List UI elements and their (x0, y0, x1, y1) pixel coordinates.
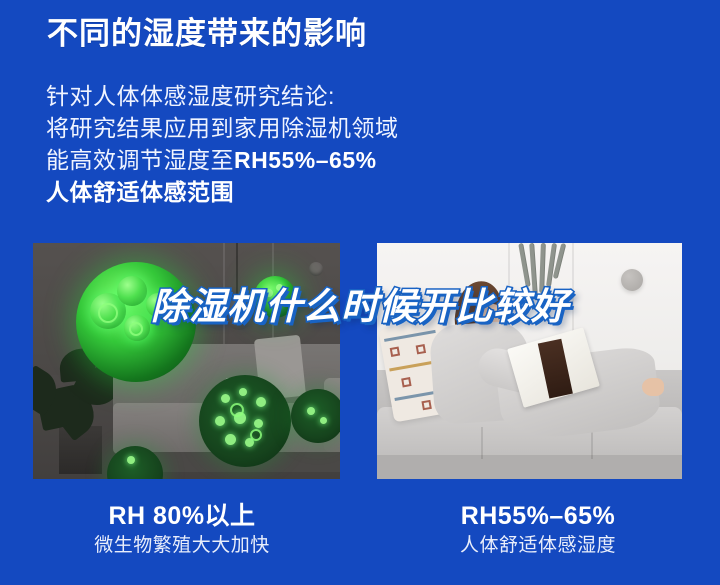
virus-spike (256, 397, 266, 407)
virus-sphere-large (199, 375, 291, 467)
microbe-ring (98, 303, 118, 323)
virus-ring (230, 403, 244, 417)
captions-row: RH 80%以上 微生物繁殖大大加快 RH55%–65% 人体舒适体感湿度 (0, 500, 720, 585)
virus-spike (239, 388, 247, 396)
virus-spike (320, 417, 327, 424)
virus-spike (307, 407, 315, 415)
microbe-ring (129, 322, 143, 336)
virus-sphere-right (291, 389, 340, 443)
page-title: 不同的湿度带来的影响 (47, 16, 367, 52)
caption-right-title: RH55%–65% (368, 500, 708, 532)
caption-left-title: RH 80%以上 (12, 500, 352, 532)
virus-spike (254, 419, 263, 428)
caption-right-sub: 人体舒适体感湿度 (368, 532, 708, 560)
virus-spike (225, 434, 236, 445)
intro-text-block: 针对人体体感湿度研究结论: 将研究结果应用到家用除湿机领域 能高效调节湿度至RH… (46, 80, 606, 208)
overlay-title: 除湿机什么时候开比较好 (151, 276, 569, 330)
intro-line-3-range: RH55%–65% (234, 147, 377, 173)
foot (642, 378, 663, 397)
virus-spike (221, 394, 230, 403)
caption-right: RH55%–65% 人体舒适体感湿度 (368, 500, 708, 560)
caption-left-sub: 微生物繁殖大大加快 (12, 532, 352, 560)
intro-line-1: 针对人体体感湿度研究结论: (46, 80, 606, 112)
caption-left: RH 80%以上 微生物繁殖大大加快 (12, 500, 352, 560)
virus-spike (127, 456, 135, 464)
microbe-blob (117, 276, 147, 306)
virus-spike (215, 416, 225, 426)
intro-line-2: 将研究结果应用到家用除湿机领域 (46, 112, 606, 144)
intro-line-3: 能高效调节湿度至RH55%–65% (46, 144, 606, 176)
intro-line-3-prefix: 能高效调节湿度至 (46, 147, 234, 173)
poster-root: 不同的湿度带来的影响 针对人体体感湿度研究结论: 将研究结果应用到家用除湿机领域… (0, 0, 720, 585)
virus-ring (250, 429, 262, 441)
intro-line-4: 人体舒适体感范围 (46, 176, 606, 208)
